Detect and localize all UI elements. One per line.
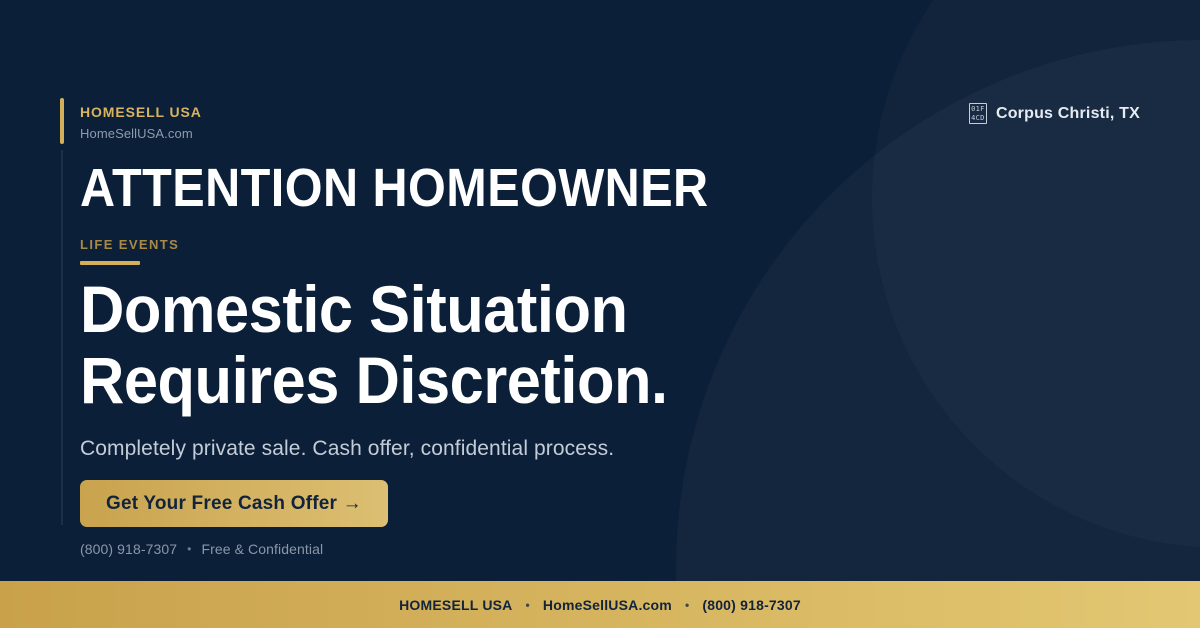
footer-separator-2: • bbox=[685, 598, 689, 612]
pin-icon-glyph-top: 01F bbox=[970, 105, 986, 114]
location-badge: 01F4CD Corpus Christi, TX bbox=[969, 103, 1140, 124]
footer-bar: HOMESELL USA • HomeSellUSA.com • (800) 9… bbox=[0, 581, 1200, 628]
footer-separator-1: • bbox=[525, 598, 529, 612]
contact-separator: • bbox=[187, 542, 191, 556]
pin-icon-glyph-bottom: 4CD bbox=[970, 114, 986, 123]
ad-banner: HOMESELL USA HomeSellUSA.com 01F4CD Corp… bbox=[0, 0, 1200, 628]
accent-rail-gold bbox=[60, 98, 64, 144]
footer-phone[interactable]: (800) 918-7307 bbox=[702, 597, 801, 613]
main-headline: Domestic Situation Requires Discretion. bbox=[80, 274, 668, 417]
background-circle-small bbox=[872, 0, 1200, 548]
brand-block: HOMESELL USA HomeSellUSA.com bbox=[80, 104, 202, 141]
footer-website[interactable]: HomeSellUSA.com bbox=[543, 597, 672, 613]
background-circle-large bbox=[676, 40, 1200, 628]
headline-line-2: Requires Discretion. bbox=[80, 345, 668, 416]
headline-line-1: Domestic Situation bbox=[80, 274, 668, 345]
subheadline: Completely private sale. Cash offer, con… bbox=[80, 437, 614, 461]
eyebrow-block: LIFE EVENTS bbox=[80, 237, 179, 265]
eyebrow-label: LIFE EVENTS bbox=[80, 237, 179, 252]
eyebrow-underline bbox=[80, 261, 140, 265]
accent-rail-line bbox=[61, 150, 63, 525]
get-free-cash-offer-button[interactable]: Get Your Free Cash Offer → bbox=[80, 480, 388, 527]
brand-name: HOMESELL USA bbox=[80, 104, 202, 122]
attention-headline: ATTENTION HOMEOWNER bbox=[80, 160, 709, 217]
location-label: Corpus Christi, TX bbox=[996, 105, 1140, 123]
brand-website: HomeSellUSA.com bbox=[80, 126, 202, 141]
pin-icon: 01F4CD bbox=[969, 103, 987, 124]
contact-phone[interactable]: (800) 918-7307 bbox=[80, 541, 177, 557]
contact-line: (800) 918-7307 • Free & Confidential bbox=[80, 541, 323, 557]
contact-note: Free & Confidential bbox=[201, 541, 323, 557]
footer-brand: HOMESELL USA bbox=[399, 597, 512, 613]
